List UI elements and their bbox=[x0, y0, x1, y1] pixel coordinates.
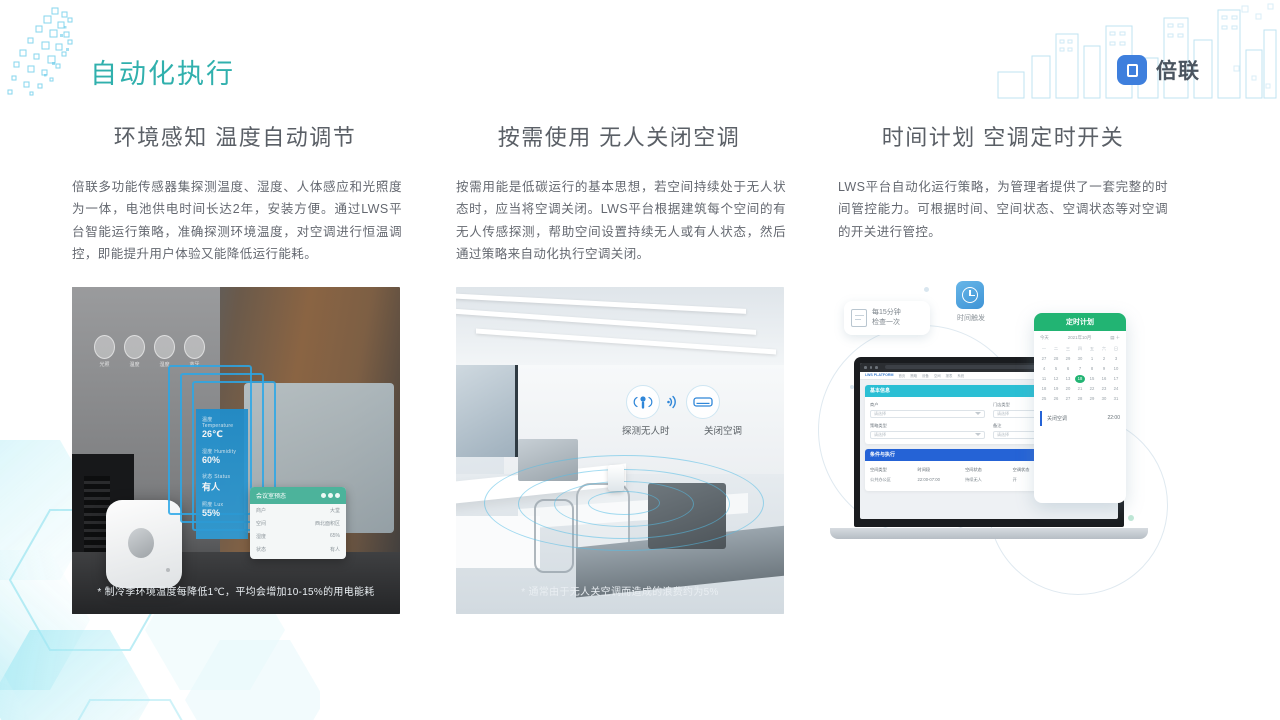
data-key: 湿度 Humidity bbox=[202, 448, 242, 455]
illuminance-icon: 光照 bbox=[94, 335, 115, 359]
sensor-data-card: 温度 Temperature26℃ 湿度 Humidity60% 状态 Stat… bbox=[196, 409, 248, 539]
calendar-day[interactable]: 23 bbox=[1099, 385, 1109, 393]
occupancy-action-labels: 探测无人时 关闭空调 bbox=[622, 423, 742, 437]
data-value: 60% bbox=[202, 455, 242, 465]
nav-item[interactable]: 报表 bbox=[946, 373, 953, 378]
strategy-type-field[interactable]: 策略类型 请选择 bbox=[870, 423, 985, 439]
check-interval-chip: 每15分钟 检查一次 bbox=[844, 301, 930, 335]
calendar-day[interactable]: 29 bbox=[1063, 355, 1073, 363]
calendar-day[interactable]: 3 bbox=[1111, 355, 1121, 363]
calendar-day[interactable]: 28 bbox=[1051, 355, 1061, 363]
calendar-day[interactable]: 27 bbox=[1063, 395, 1073, 403]
calendar-day[interactable]: 26 bbox=[1051, 395, 1061, 403]
calendar-today-button[interactable]: 今天 bbox=[1040, 335, 1049, 341]
clock-icon bbox=[956, 281, 984, 309]
occupancy-radar-waves bbox=[484, 445, 764, 565]
panel-row-value: 65% bbox=[330, 533, 340, 540]
data-value: 有人 bbox=[202, 480, 242, 493]
weekday-label: 日 bbox=[1111, 345, 1121, 353]
col-time-range: 时间段 bbox=[918, 465, 966, 475]
feature-column-1: 环境感知 温度自动调节 倍联多功能传感器集探测温度、湿度、人体感应和光照度为一体… bbox=[72, 110, 402, 614]
calendar-day[interactable]: 2 bbox=[1099, 355, 1109, 363]
schedule-event-row[interactable]: 关闭空调 22:00 bbox=[1040, 411, 1120, 426]
calendar-day[interactable]: 27 bbox=[1039, 355, 1049, 363]
calendar-day[interactable]: 6 bbox=[1063, 365, 1073, 373]
panel-row-key: 状态 bbox=[256, 546, 266, 553]
field-label: 商户 bbox=[870, 402, 985, 408]
document-icon bbox=[851, 309, 867, 327]
weekday-label: 二 bbox=[1051, 345, 1061, 353]
calendar-day[interactable]: 28 bbox=[1075, 395, 1085, 403]
bluetooth-icon: 蓝牙 bbox=[184, 335, 205, 359]
calendar-day[interactable]: 4 bbox=[1039, 365, 1049, 373]
wireless-sensor-device bbox=[608, 465, 624, 491]
weekday-label: 四 bbox=[1075, 345, 1085, 353]
check-interval-line1: 每15分钟 bbox=[872, 308, 901, 318]
weekday-label: 六 bbox=[1099, 345, 1109, 353]
weekday-label: 五 bbox=[1087, 345, 1097, 353]
data-key: 照度 Lux bbox=[202, 501, 242, 508]
brand-logo: 倍联 bbox=[1117, 55, 1200, 85]
schedule-phone-mockup: 定时计划 今天 2021年10月 ▤ ＋ 一 二 三 四 五 六 日 bbox=[1034, 313, 1126, 503]
calendar-day[interactable]: 24 bbox=[1111, 385, 1121, 393]
column-2-photo-caption: * 通常由于无人关空调而造成的浪费约为5% bbox=[456, 583, 784, 598]
turn-off-ac-label: 关闭空调 bbox=[704, 423, 742, 437]
time-trigger-label: 时间触发 bbox=[942, 313, 1000, 323]
panel-row-value: 西北面积区 bbox=[315, 520, 340, 527]
calendar-day[interactable]: 30 bbox=[1075, 355, 1085, 363]
column-2-photo: 探测无人时 关闭空调 * 通常由于无人关空调而造成的浪费约为5% bbox=[456, 287, 784, 614]
data-value: 26℃ bbox=[202, 429, 242, 440]
nav-item[interactable]: 首页 bbox=[898, 373, 905, 378]
panel-row-key: 空间 bbox=[256, 520, 266, 527]
col-space-type: 空间类型 bbox=[870, 465, 918, 475]
calendar-day[interactable]: 10 bbox=[1111, 365, 1121, 373]
column-2-body: 按需用能是低碳运行的基本思想，若空间持续处于无人状态时，应当将空调关闭。LWS平… bbox=[456, 176, 786, 265]
brand-name: 倍联 bbox=[1156, 55, 1200, 85]
calendar-day-selected[interactable]: 18 bbox=[1075, 375, 1085, 383]
data-key: 状态 Status bbox=[202, 473, 242, 480]
cell-space-status: 持续无人 bbox=[965, 475, 1013, 485]
cell-space-type: 公共办公区 bbox=[870, 475, 918, 485]
calendar-day[interactable]: 22 bbox=[1087, 385, 1097, 393]
calendar-day[interactable]: 7 bbox=[1075, 365, 1085, 373]
column-1-body: 倍联多功能传感器集探测温度、湿度、人体感应和光照度为一体，电池供电时间长达2年，… bbox=[72, 176, 402, 265]
column-3-heading: 时间计划 空调定时开关 bbox=[838, 120, 1168, 152]
sensor-capability-icons: 光照 温度 湿度 蓝牙 bbox=[94, 335, 205, 359]
nav-item[interactable]: 设备 bbox=[922, 373, 929, 378]
signal-wave-icon bbox=[666, 395, 680, 409]
cell-time-range: 22:00-07:00 bbox=[918, 475, 966, 485]
motion-sensor-icon bbox=[626, 385, 660, 419]
calendar-day[interactable]: 16 bbox=[1099, 375, 1109, 383]
schedule-event-time: 22:00 bbox=[1107, 415, 1120, 422]
calendar-day[interactable]: 11 bbox=[1039, 375, 1049, 383]
temperature-label: 温度 bbox=[125, 361, 144, 368]
calendar-day[interactable]: 20 bbox=[1063, 385, 1073, 393]
space-status-panel: 会议室预态 商户大堂 空间西北面积区 湿度65% 状态有人 bbox=[250, 487, 346, 559]
calendar-day[interactable]: 18 bbox=[1039, 385, 1049, 393]
calendar-day[interactable]: 29 bbox=[1087, 395, 1097, 403]
panel-row-value: 有人 bbox=[330, 546, 340, 553]
page-title: 自动化执行 bbox=[90, 52, 235, 91]
temperature-icon: 温度 bbox=[124, 335, 145, 359]
data-key: 温度 Temperature bbox=[202, 416, 242, 429]
panel-title: 会议室预态 bbox=[256, 491, 286, 500]
chevron-down-icon bbox=[975, 412, 981, 415]
column-3-body: LWS平台自动化运行策略，为管理者提供了一套完整的时间管控能力。可根据时间、空间… bbox=[838, 176, 1168, 243]
column-1-photo-caption: * 制冷季环境温度每降低1℃，平均会增加10-15%的用电能耗 bbox=[72, 583, 400, 598]
calendar-day[interactable]: 8 bbox=[1087, 365, 1097, 373]
page-header: 自动化执行 倍联 bbox=[0, 0, 1280, 110]
feature-column-3: 时间计划 空调定时开关 LWS平台自动化运行策略，为管理者提供了一套完整的时间管… bbox=[838, 110, 1168, 592]
sensor-led-icon bbox=[166, 568, 170, 572]
calendar-day[interactable]: 15 bbox=[1087, 375, 1097, 383]
feature-column-2: 按需使用 无人关闭空调 按需用能是低碳运行的基本思想，若空间持续处于无人状态时，… bbox=[456, 110, 786, 614]
calendar-day[interactable]: 25 bbox=[1039, 395, 1049, 403]
data-value: 55% bbox=[202, 508, 242, 518]
calendar-day[interactable]: 30 bbox=[1099, 395, 1109, 403]
calendar-day[interactable]: 9 bbox=[1099, 365, 1109, 373]
col-space-status: 空间状态 bbox=[965, 465, 1013, 475]
calendar-day[interactable]: 21 bbox=[1075, 385, 1085, 393]
panel-dots-icon bbox=[321, 493, 340, 498]
nav-item[interactable]: 系统 bbox=[957, 373, 964, 378]
column-2-heading: 按需使用 无人关闭空调 bbox=[452, 120, 786, 152]
brand-mark-icon bbox=[1117, 55, 1147, 85]
calendar-grid[interactable]: 一 二 三 四 五 六 日 27 28 29 30 1 2 3 bbox=[1034, 345, 1126, 403]
calendar-day[interactable]: 17 bbox=[1111, 375, 1121, 383]
field-label: 策略类型 bbox=[870, 423, 985, 429]
calendar-day[interactable]: 13 bbox=[1063, 375, 1073, 383]
field-select[interactable]: 请选择 bbox=[870, 431, 985, 439]
schedule-title: 定时计划 bbox=[1034, 313, 1126, 331]
panel-row-value: 大堂 bbox=[330, 507, 340, 514]
calendar-day[interactable]: 31 bbox=[1111, 395, 1121, 403]
column-1-heading: 环境感知 温度自动调节 bbox=[68, 120, 402, 152]
app-logo: LWS PLATFORM bbox=[865, 373, 893, 377]
panel-row-key: 湿度 bbox=[256, 533, 266, 540]
calendar-add-button[interactable]: ▤ ＋ bbox=[1110, 335, 1120, 341]
check-interval-line2: 检查一次 bbox=[872, 318, 901, 328]
air-conditioner-icon bbox=[686, 385, 720, 419]
illuminance-label: 光照 bbox=[95, 361, 114, 368]
laptop-base bbox=[830, 528, 1148, 539]
calendar-month-label: 2021年10月 bbox=[1068, 335, 1091, 341]
chevron-down-icon bbox=[975, 433, 981, 436]
calendar-day[interactable]: 12 bbox=[1051, 375, 1061, 383]
nav-item[interactable]: 策略 bbox=[910, 373, 917, 378]
merchant-field[interactable]: 商户 请选择 bbox=[870, 402, 985, 418]
panel-row-key: 商户 bbox=[256, 507, 266, 514]
column-3-photo: 每15分钟 检查一次 时间触发 LWS PLATFORM bbox=[838, 265, 1166, 592]
schedule-event-name: 关闭空调 bbox=[1047, 415, 1067, 422]
calendar-day[interactable]: 19 bbox=[1051, 385, 1061, 393]
column-1-photo: 光照 温度 湿度 蓝牙 温度 Temperature26℃ 湿度 Humidit… bbox=[72, 287, 400, 614]
weekday-label: 一 bbox=[1039, 345, 1049, 353]
humidity-icon: 湿度 bbox=[154, 335, 175, 359]
calendar-day[interactable]: 1 bbox=[1087, 355, 1097, 363]
occupancy-action-icons bbox=[626, 385, 720, 419]
field-select[interactable]: 请选择 bbox=[870, 410, 985, 418]
sensor-lens-icon bbox=[128, 528, 154, 558]
detect-vacancy-label: 探测无人时 bbox=[622, 423, 670, 437]
nav-item[interactable]: 空间 bbox=[934, 373, 941, 378]
weekday-label: 三 bbox=[1063, 345, 1073, 353]
calendar-toolbar: 今天 2021年10月 ▤ ＋ bbox=[1034, 331, 1126, 345]
calendar-day[interactable]: 5 bbox=[1051, 365, 1061, 373]
